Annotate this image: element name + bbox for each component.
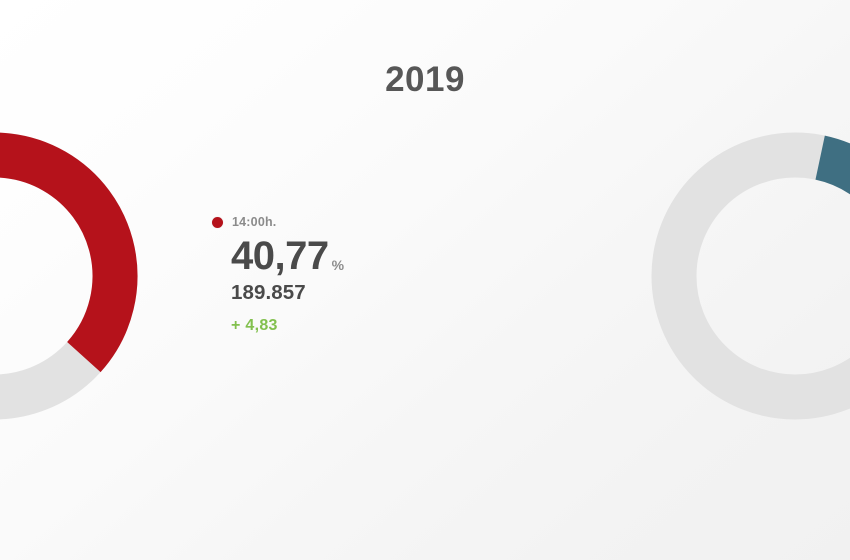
red-dot-icon — [212, 217, 223, 228]
right-donut-track — [674, 155, 850, 397]
delta-change-value: + 4,83 — [231, 317, 442, 335]
legend-time-label: 14:00h. — [232, 215, 276, 229]
dashboard-canvas: 2019 14:00h. 40,77 % 189.857 + 4,83 — [0, 0, 850, 560]
primary-percentage-value: 40,77 — [231, 237, 329, 276]
legend-row: 14:00h. — [212, 214, 442, 230]
page-title: 2019 — [0, 62, 850, 97]
metric-info-block: 14:00h. 40,77 % 189.857 + 4,83 — [212, 214, 442, 335]
right-donut-chart — [650, 131, 850, 421]
percent-sign: % — [332, 257, 344, 273]
absolute-count-value: 189.857 — [231, 281, 442, 305]
left-donut-chart — [0, 131, 139, 421]
primary-metric-row: 40,77 % — [231, 237, 442, 276]
